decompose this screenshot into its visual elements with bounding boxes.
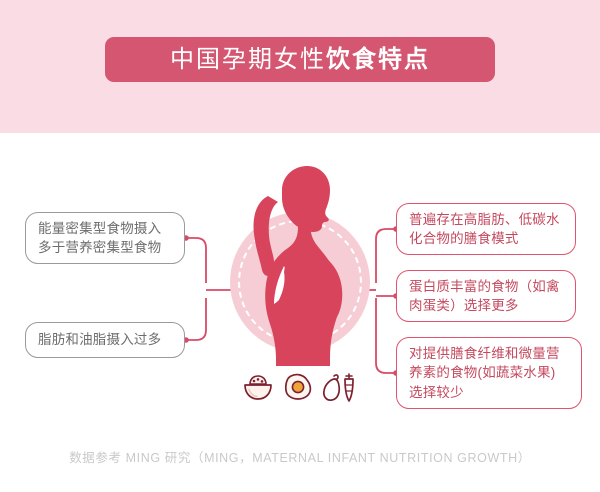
page-title: 中国孕期女性饮食特点 [170,48,430,72]
callout-box-right-2[interactable]: 蛋白质丰富的食物（如禽肉蛋类）选择更多 [396,270,576,322]
callout-text: 能量密集型食物摄入多于营养密集型食物 [38,219,172,257]
callout-text: 对提供膳食纤维和微量营养素的食物(如蔬菜水果)选择较少 [409,344,569,401]
pregnant-woman-icon [212,160,388,370]
callout-text: 普遍存在高脂肪、低碳水化合物的膳食模式 [409,210,563,248]
data-source-note: 数据参考 MING 研究（MING，MATERNAL INFANT NUTRIT… [69,451,531,465]
header-banner: 中国孕期女性饮食特点 [0,0,600,133]
footer: 数据参考 MING 研究（MING，MATERNAL INFANT NUTRIT… [0,447,600,467]
central-illustration [212,160,388,410]
fried-egg-icon [282,371,314,403]
page-title-bold: 饮食特点 [326,46,430,73]
callout-text: 脂肪和油脂摄入过多 [38,330,161,349]
title-pill: 中国孕期女性饮食特点 [105,37,495,82]
callout-box-left-1[interactable]: 能量密集型食物摄入多于营养密集型食物 [25,212,185,264]
callout-box-left-2[interactable]: 脂肪和油脂摄入过多 [25,322,185,358]
food-icon-row [222,365,378,409]
callout-box-right-3[interactable]: 对提供膳食纤维和微量营养素的食物(如蔬菜水果)选择较少 [396,337,582,409]
page-title-light: 中国孕期女性 [170,46,326,73]
infographic-root: 中国孕期女性饮食特点 [0,0,600,492]
rice-bowl-icon [241,371,275,403]
callout-box-right-1[interactable]: 普遍存在高脂肪、低碳水化合物的膳食模式 [396,203,576,255]
vegetables-icon [321,370,359,404]
callout-text: 蛋白质丰富的食物（如禽肉蛋类）选择更多 [409,277,563,315]
